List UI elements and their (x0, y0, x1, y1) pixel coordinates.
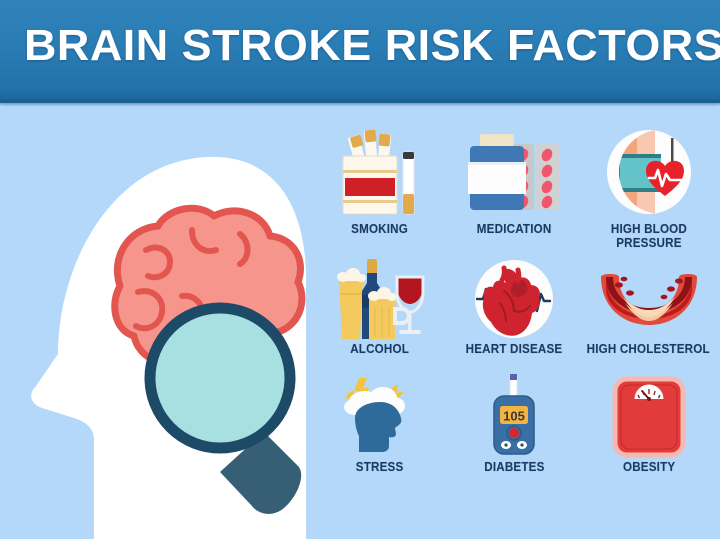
risk-factor-smoking[interactable]: SMOKING (312, 128, 447, 260)
risk-factor-label: SMOKING (351, 223, 408, 237)
risk-factor-high-blood-pressure[interactable]: HIGH BLOOD PRESSURE (581, 128, 716, 260)
risk-factor-label: ALCOHOL (350, 343, 409, 357)
anatomical-heart-ecg-icon (470, 260, 558, 340)
risk-factor-obesity[interactable]: OBESITY (581, 376, 716, 494)
head-with-brain-and-magnifier-illustration (6, 110, 306, 539)
pill-bottle-blister-icon (466, 128, 562, 220)
risk-factor-heart-disease[interactable]: HEART DISEASE (447, 260, 582, 376)
risk-factor-label: STRESS (356, 461, 404, 475)
risk-factor-alcohol[interactable]: ALCOHOL (312, 260, 447, 376)
narrowed-artery-icon (597, 260, 701, 340)
page-title: BRAIN STROKE RISK FACTORS (24, 21, 720, 71)
risk-factor-medication[interactable]: MEDICATION (447, 128, 582, 260)
risk-factor-label: MEDICATION (477, 223, 552, 237)
risk-factor-label: HEART DISEASE (466, 343, 563, 357)
header-banner: BRAIN STROKE RISK FACTORS (0, 0, 720, 103)
risk-factor-label: OBESITY (622, 461, 674, 475)
glucose-reading: 105 (503, 409, 525, 424)
blood-pressure-cuff-heart-icon (603, 128, 695, 220)
head-storm-cloud-icon (335, 376, 423, 458)
blister-pack-front (536, 144, 559, 210)
beer-glass (337, 268, 366, 339)
risk-factor-label: DIABETES (484, 461, 544, 475)
infographic-page: BRAIN STROKE RISK FACTORS (0, 0, 720, 539)
head-shape (355, 402, 401, 452)
risk-factor-grid: SMOKING (312, 128, 716, 528)
glucometer-icon: 105 (482, 376, 546, 458)
cigarette-pack-icon (337, 128, 421, 220)
weighing-scale-icon (611, 376, 687, 458)
risk-factor-high-cholesterol[interactable]: HIGH CHOLESTEROL (581, 260, 716, 376)
wine-glass (397, 277, 423, 334)
risk-factor-diabetes[interactable]: 105 DIABETES (447, 376, 582, 494)
risk-factor-label: HIGH BLOOD PRESSURE (611, 223, 687, 250)
risk-factor-stress[interactable]: STRESS (312, 376, 447, 494)
beer-wine-bottle-icon (329, 260, 429, 340)
risk-factor-label: HIGH CHOLESTEROL (587, 343, 710, 357)
